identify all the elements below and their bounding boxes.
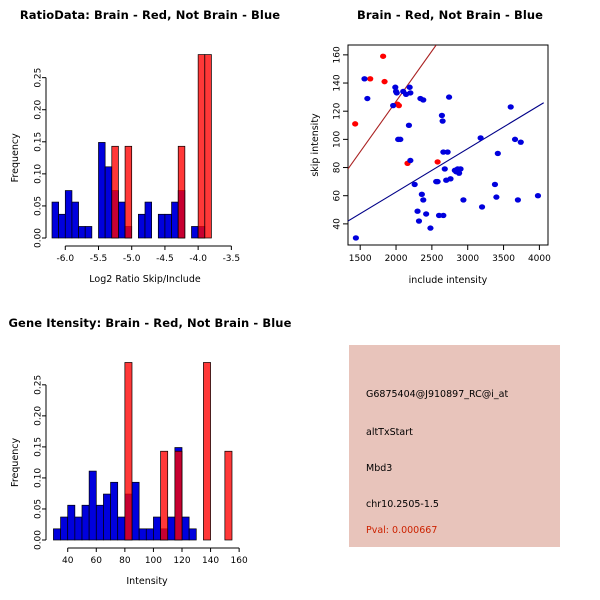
- scatter-point: [396, 103, 402, 108]
- histogram-bar: [192, 226, 199, 238]
- scatter-x-axis-title: include intensity: [409, 275, 488, 286]
- scatter-point: [457, 166, 463, 171]
- probe-id-text: G6875404@J910897_RC@i_at: [366, 389, 508, 400]
- event-type-text: altTxStart: [366, 427, 413, 438]
- scatter-point: [397, 137, 403, 142]
- gene-hist-x-tick-label: 40: [62, 556, 74, 566]
- histogram-bar: [189, 529, 196, 540]
- scatter-point: [361, 76, 367, 81]
- scatter-point: [460, 197, 466, 202]
- panel-gene-histogram: Gene Itensity: Brain - Red, Not Brain - …: [0, 300, 300, 600]
- scatter-axes: 4060801001201401601500200025003000350040…: [310, 46, 551, 286]
- histogram-bar: [125, 146, 132, 238]
- gene-symbol-text: Mbd3: [366, 463, 392, 474]
- scatter-point: [439, 113, 445, 118]
- scatter-point: [412, 182, 418, 187]
- scatter-plot-frame: [348, 45, 548, 245]
- histogram-bar: [205, 55, 212, 238]
- scatter-point: [394, 90, 400, 95]
- scatter-y-tick-label: 40: [333, 218, 343, 230]
- panel-ratio-histogram: RatioData: Brain - Red, Not Brain - Blue…: [0, 0, 300, 300]
- scatter-point: [508, 104, 514, 109]
- scatter-point: [364, 96, 370, 101]
- scatter-point: [427, 225, 433, 230]
- histogram-bar: [112, 146, 119, 238]
- histogram-bar: [158, 214, 165, 238]
- histogram-bar: [75, 517, 82, 540]
- ratio-hist-bars: [52, 55, 211, 238]
- gene-info-panel: G6875404@J910897_RC@i_at altTxStart Mbd3…: [349, 345, 560, 547]
- histogram-bar: [59, 214, 66, 238]
- scatter-point: [447, 176, 453, 181]
- scatter-point: [440, 213, 446, 218]
- gene-hist-x-tick-label: 160: [231, 556, 248, 566]
- histogram-bar: [118, 517, 125, 540]
- scatter-point: [442, 166, 448, 171]
- scatter-point: [495, 151, 501, 156]
- histogram-bar: [146, 529, 153, 540]
- histogram-bar: [65, 191, 72, 238]
- histogram-bar: [165, 214, 172, 238]
- scatter-x-tick-label: 1500: [349, 254, 372, 264]
- locus-text: chr10.2505-1.5: [366, 499, 439, 510]
- histogram-bar: [99, 142, 106, 238]
- scatter-points-not-brain: [353, 76, 541, 241]
- histogram-bar: [82, 505, 89, 540]
- scatter-point: [367, 76, 373, 81]
- ratio-hist-y-tick-label: 0.00: [34, 228, 44, 248]
- scatter-points-brain: [352, 54, 441, 166]
- histogram-bar: [182, 517, 189, 540]
- scatter-point: [435, 159, 441, 164]
- histogram-bar: [225, 451, 232, 540]
- scatter-y-tick-label: 160: [333, 46, 343, 63]
- ratio-histogram-title: RatioData: Brain - Red, Not Brain - Blue: [0, 8, 300, 22]
- ratio-hist-x-tick-label: -4.0: [189, 254, 207, 264]
- scatter-point: [512, 137, 518, 142]
- ratio-hist-x-axis-title: Log2 Ratio Skip/Include: [89, 274, 201, 285]
- scatter-point: [352, 121, 358, 126]
- gene-hist-y-tick-label: 0.20: [34, 406, 44, 426]
- ratio-hist-y-tick-label: 0.15: [34, 132, 44, 152]
- scatter-point: [407, 85, 413, 90]
- ratio-hist-x-tick-label: -5.0: [123, 254, 141, 264]
- gene-histogram-plot: 0.000.050.100.150.200.254060801001201401…: [0, 300, 300, 600]
- panel-scatter: Brain - Red, Not Brain - Blue 4060801001…: [300, 0, 600, 300]
- scatter-point: [446, 94, 452, 99]
- gene-hist-y-axis-title: Frequency: [10, 437, 21, 486]
- histogram-bar: [161, 451, 168, 540]
- scatter-point: [381, 79, 387, 84]
- histogram-bar: [203, 362, 210, 540]
- histogram-bar: [103, 494, 110, 540]
- scatter-point: [435, 179, 441, 184]
- scatter-y-tick-label: 120: [333, 102, 343, 119]
- scatter-plot: 4060801001201401601500200025003000350040…: [300, 0, 600, 300]
- scatter-title: Brain - Red, Not Brain - Blue: [300, 8, 600, 22]
- scatter-x-tick-label: 4000: [528, 254, 551, 264]
- gene-hist-y-tick-label: 0.05: [34, 499, 44, 519]
- scatter-trend-line: [348, 103, 544, 221]
- scatter-point: [414, 209, 420, 214]
- histogram-bar: [52, 202, 59, 238]
- gene-hist-y-tick-label: 0.25: [34, 375, 44, 395]
- scatter-x-tick-label: 2500: [420, 254, 443, 264]
- scatter-x-tick-label: 3000: [456, 254, 479, 264]
- histogram-bar: [53, 529, 60, 540]
- gene-hist-y-tick-label: 0.10: [34, 468, 44, 488]
- scatter-point: [445, 149, 451, 154]
- histogram-bar: [175, 451, 182, 540]
- scatter-y-tick-label: 140: [333, 74, 343, 91]
- ratio-hist-x-tick-label: -4.5: [156, 254, 174, 264]
- scatter-point: [478, 135, 484, 140]
- scatter-point: [353, 235, 359, 240]
- histogram-bar: [111, 482, 118, 540]
- gene-hist-x-axis-title: Intensity: [126, 576, 168, 587]
- gene-hist-y-tick-label: 0.15: [34, 437, 44, 457]
- histogram-bar: [72, 202, 79, 238]
- ratio-hist-x-tick-label: -6.0: [57, 254, 75, 264]
- scatter-point: [390, 103, 396, 108]
- scatter-point: [492, 182, 498, 187]
- scatter-point: [420, 97, 426, 102]
- scatter-point: [419, 192, 425, 197]
- histogram-bar: [85, 226, 92, 238]
- scatter-point: [535, 193, 541, 198]
- scatter-trend-lines: [348, 45, 544, 221]
- gene-histogram-title: Gene Itensity: Brain - Red, Not Brain - …: [0, 316, 300, 330]
- histogram-bar: [139, 529, 146, 540]
- ratio-hist-y-tick-label: 0.05: [34, 196, 44, 216]
- scatter-x-tick-label: 3500: [492, 254, 515, 264]
- ratio-hist-x-tick-label: -5.5: [90, 254, 108, 264]
- ratio-hist-y-tick-label: 0.10: [34, 164, 44, 184]
- gene-hist-y-tick-label: 0.00: [34, 530, 44, 550]
- ratio-hist-bars-brain: [112, 55, 212, 238]
- scatter-points: [352, 54, 541, 241]
- histogram-bar: [172, 202, 179, 238]
- histogram-bar: [168, 517, 175, 540]
- scatter-point: [380, 54, 386, 59]
- scatter-point: [407, 90, 413, 95]
- scatter-point: [406, 123, 412, 128]
- scatter-x-tick-label: 2000: [385, 254, 408, 264]
- histogram-bar: [138, 214, 145, 238]
- scatter-point: [420, 197, 426, 202]
- histogram-bar: [145, 202, 152, 238]
- histogram-bar: [125, 362, 132, 540]
- ratio-histogram-plot: 0.000.050.100.150.200.25-6.0-5.5-5.0-4.5…: [0, 0, 300, 300]
- ratio-hist-y-tick-label: 0.25: [34, 68, 44, 88]
- histogram-bar: [105, 167, 112, 238]
- histogram-bar: [61, 517, 68, 540]
- scatter-y-tick-label: 80: [333, 162, 343, 174]
- gene-hist-x-tick-label: 60: [91, 556, 103, 566]
- scatter-point: [518, 139, 524, 144]
- gene-hist-x-tick-label: 100: [145, 556, 162, 566]
- scatter-point: [515, 197, 521, 202]
- pvalue-text: Pval: 0.000667: [366, 525, 437, 536]
- histogram-bar: [96, 505, 103, 540]
- gene-hist-bars: [53, 362, 232, 540]
- figure-canvas: RatioData: Brain - Red, Not Brain - Blue…: [0, 0, 600, 600]
- histogram-bar: [178, 146, 185, 238]
- scatter-point: [407, 158, 413, 163]
- gene-hist-bars-brain: [125, 362, 232, 540]
- scatter-point: [493, 194, 499, 199]
- histogram-bar: [198, 55, 205, 238]
- ratio-hist-x-tick-label: -3.5: [223, 254, 241, 264]
- histogram-bar: [118, 202, 125, 238]
- scatter-y-axis-title: skip intensity: [310, 113, 321, 177]
- ratio-hist-y-tick-label: 0.20: [34, 99, 44, 119]
- histogram-bar: [68, 505, 75, 540]
- scatter-point: [440, 118, 446, 123]
- gene-hist-x-tick-label: 120: [173, 556, 190, 566]
- scatter-point: [416, 218, 422, 223]
- scatter-point: [423, 211, 429, 216]
- histogram-bar: [153, 517, 160, 540]
- histogram-bar: [132, 482, 139, 540]
- gene-hist-x-tick-label: 140: [202, 556, 219, 566]
- histogram-bar: [89, 471, 96, 540]
- histogram-bar: [79, 226, 86, 238]
- gene-hist-x-tick-label: 80: [119, 556, 131, 566]
- ratio-hist-y-axis-title: Frequency: [10, 133, 21, 182]
- scatter-y-tick-label: 100: [333, 131, 343, 148]
- scatter-y-tick-label: 60: [333, 190, 343, 202]
- scatter-point: [479, 204, 485, 209]
